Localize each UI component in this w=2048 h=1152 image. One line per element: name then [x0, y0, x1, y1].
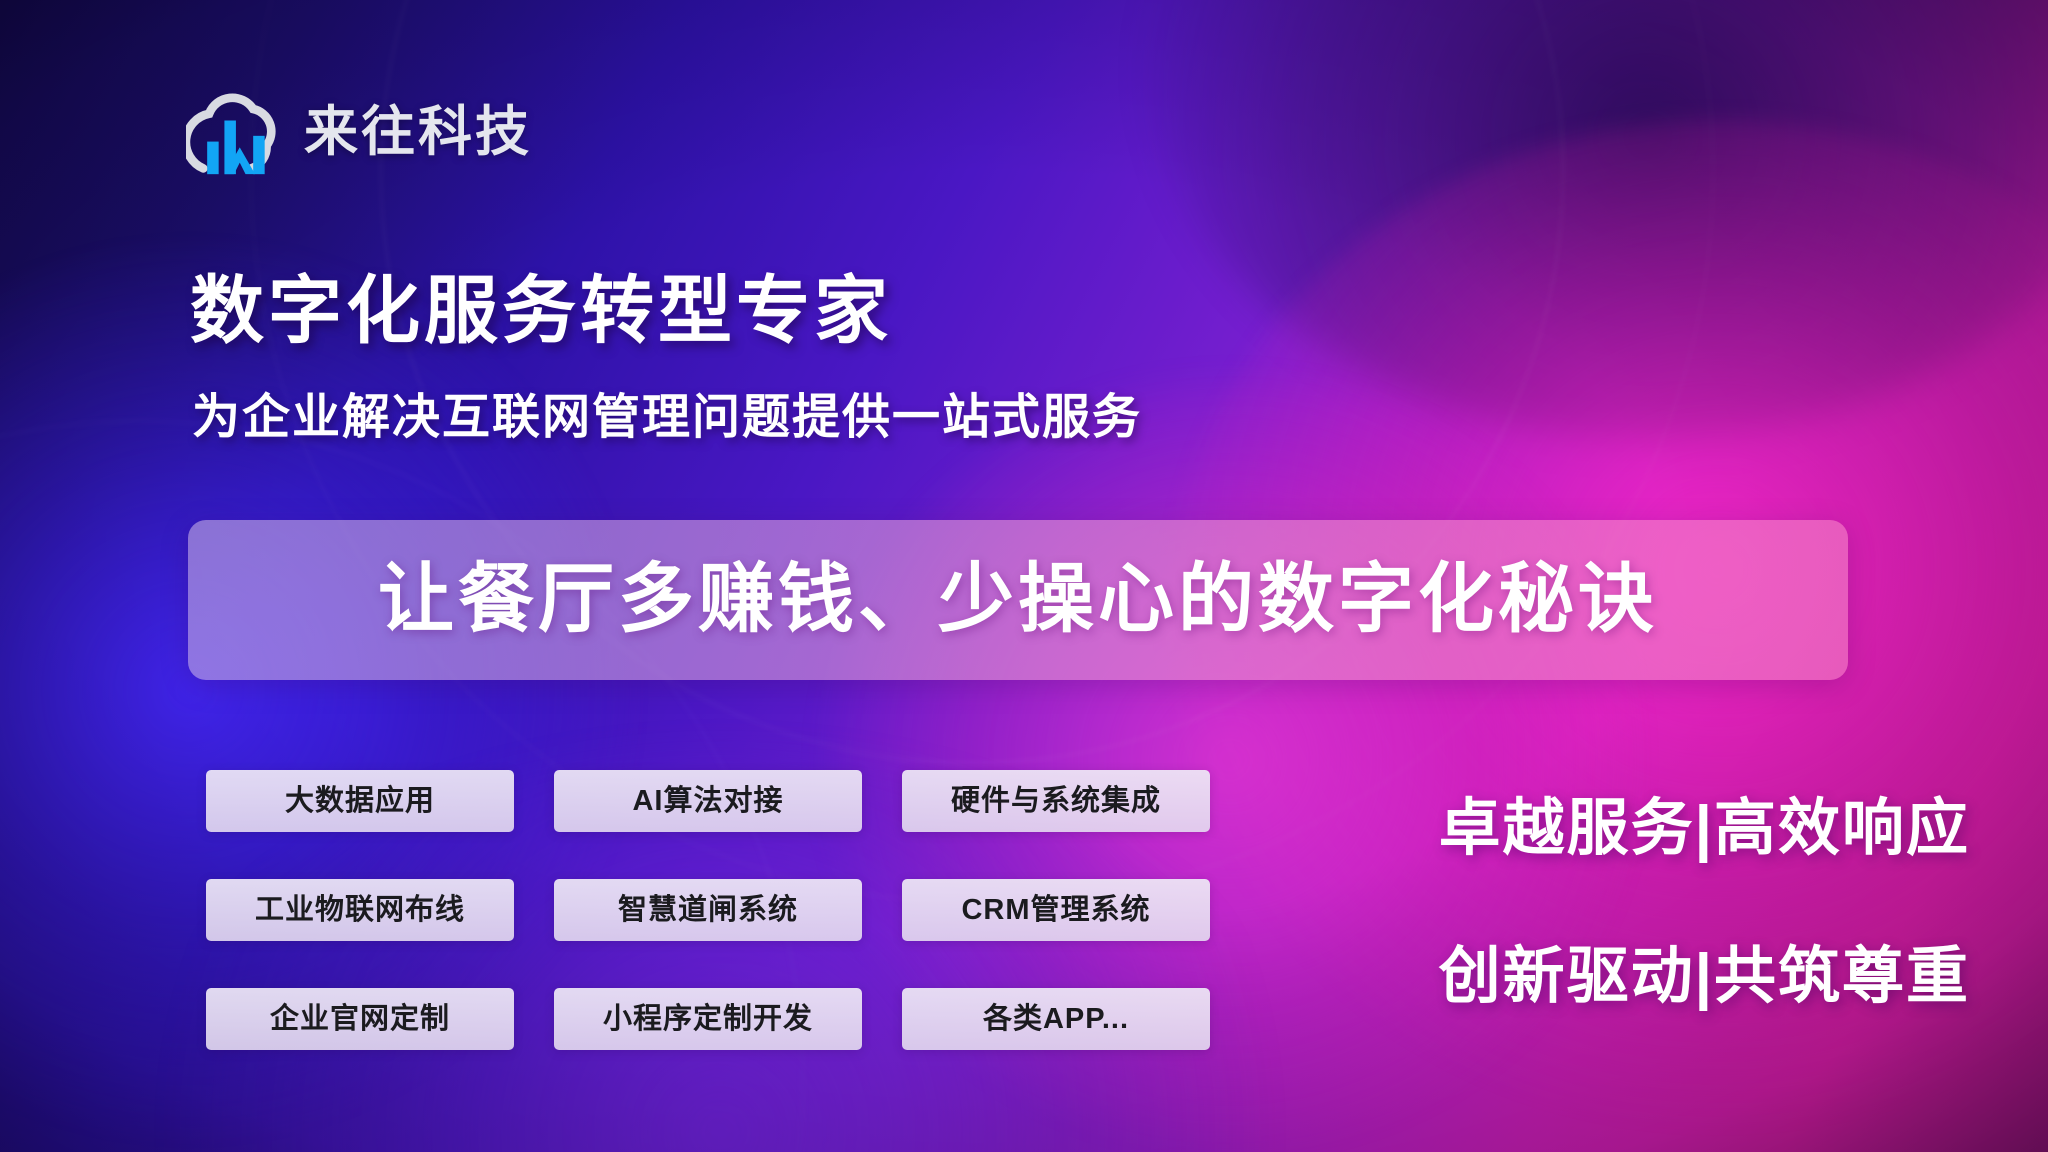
service-tag-label: AI算法对接	[632, 787, 783, 816]
service-tag-label: 工业物联网布线	[255, 896, 465, 925]
service-tag-label: 硬件与系统集成	[951, 787, 1161, 816]
service-tag[interactable]: 大数据应用	[206, 770, 514, 832]
promo-poster: 来往科技 数字化服务转型专家 为企业解决互联网管理问题提供一站式服务 让餐厅多赚…	[0, 0, 2048, 1152]
service-tag-label: 各类APP...	[983, 1005, 1129, 1034]
service-tag[interactable]: 硬件与系统集成	[902, 770, 1210, 832]
slogan-line-1: 卓越服务|高效响应	[1439, 798, 1970, 860]
service-tag[interactable]: 各类APP...	[902, 988, 1210, 1050]
page-title: 数字化服务转型专家	[190, 272, 892, 350]
brand-name: 来往科技	[304, 105, 532, 159]
service-tag[interactable]: 小程序定制开发	[554, 988, 862, 1050]
page-subtitle: 为企业解决互联网管理问题提供一站式服务	[192, 392, 1142, 445]
service-tag-label: 小程序定制开发	[603, 1005, 813, 1034]
slogan-line-2: 创新驱动|共筑尊重	[1439, 946, 1970, 1008]
highlight-banner: 让餐厅多赚钱、少操心的数字化秘诀	[188, 520, 1848, 680]
background-glow-top-right	[1148, 0, 2048, 440]
service-tag[interactable]: 企业官网定制	[206, 988, 514, 1050]
service-tag-label: 大数据应用	[285, 787, 435, 816]
brand-logo[interactable]: 来往科技	[186, 86, 532, 178]
cloud-chart-w-logo-icon	[186, 86, 282, 178]
service-tag-label: CRM管理系统	[961, 896, 1150, 925]
service-tag[interactable]: CRM管理系统	[902, 879, 1210, 941]
service-tag-label: 智慧道闸系统	[618, 896, 798, 925]
service-tag-grid: 大数据应用 AI算法对接 硬件与系统集成 工业物联网布线 智慧道闸系统 CRM管…	[206, 770, 1210, 1050]
service-tag[interactable]: 工业物联网布线	[206, 879, 514, 941]
highlight-banner-text: 让餐厅多赚钱、少操心的数字化秘诀	[378, 562, 1658, 638]
service-tag[interactable]: AI算法对接	[554, 770, 862, 832]
service-tag[interactable]: 智慧道闸系统	[554, 879, 862, 941]
service-tag-label: 企业官网定制	[270, 1005, 450, 1034]
